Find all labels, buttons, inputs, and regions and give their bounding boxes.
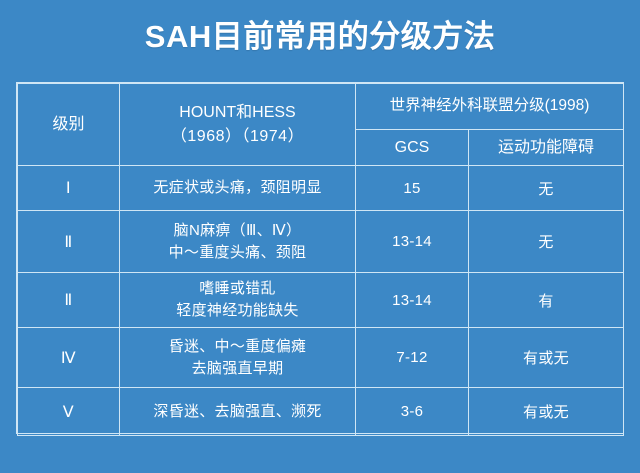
cell-motor-deficit: 有或无 bbox=[469, 328, 624, 388]
description-line1: 深昏迷、去脑强直、濒死 bbox=[123, 401, 352, 423]
slide-title-bar: SAH目前常用的分级方法 bbox=[0, 0, 640, 72]
description-line1: 无症状或头痛，颈阻明显 bbox=[123, 177, 352, 199]
cell-description: 嗜睡或错乱 轻度神经功能缺失 bbox=[120, 273, 356, 328]
description-line2: 轻度神经功能缺失 bbox=[123, 300, 352, 322]
cell-gcs: 13-14 bbox=[356, 211, 469, 273]
cell-description: 脑N麻痹（Ⅲ、Ⅳ） 中～重度头痛、颈阻 bbox=[120, 211, 356, 273]
column-header-hunt-hess: HOUNT和HESS （1968）（1974） bbox=[120, 84, 356, 166]
column-header-motor-deficit: 运动功能障碍 bbox=[469, 130, 624, 166]
cell-level: Ⅳ bbox=[18, 328, 120, 388]
description-line1: 昏迷、中～重度偏瘫 bbox=[123, 336, 352, 358]
column-header-level: 级别 bbox=[18, 84, 120, 166]
description-line2: 中～重度头痛、颈阻 bbox=[123, 242, 352, 264]
cell-motor-deficit: 无 bbox=[469, 166, 624, 211]
cell-level: Ⅱ bbox=[18, 211, 120, 273]
page-title: SAH目前常用的分级方法 bbox=[145, 21, 495, 52]
cell-gcs: 15 bbox=[356, 166, 469, 211]
cell-level: Ⅱ bbox=[18, 273, 120, 328]
description-line1: 脑N麻痹（Ⅲ、Ⅳ） bbox=[123, 220, 352, 242]
sah-grading-table: 级别 HOUNT和HESS （1968）（1974） 世界神经外科联盟分级(19… bbox=[17, 83, 624, 436]
cell-motor-deficit: 无 bbox=[469, 211, 624, 273]
cell-description: 昏迷、中～重度偏瘫 去脑强直早期 bbox=[120, 328, 356, 388]
cell-motor-deficit: 有 bbox=[469, 273, 624, 328]
cell-gcs: 3-6 bbox=[356, 388, 469, 436]
table-row: Ⅰ 无症状或头痛，颈阻明显 15 无 bbox=[18, 166, 624, 211]
table-row: Ⅳ 昏迷、中～重度偏瘫 去脑强直早期 7-12 有或无 bbox=[18, 328, 624, 388]
table-row: Ⅱ 嗜睡或错乱 轻度神经功能缺失 13-14 有 bbox=[18, 273, 624, 328]
hunt-hess-title-line1: HOUNT和HESS bbox=[123, 101, 352, 124]
table-row: Ⅴ 深昏迷、去脑强直、濒死 3-6 有或无 bbox=[18, 388, 624, 436]
cell-level: Ⅰ bbox=[18, 166, 120, 211]
cell-level: Ⅴ bbox=[18, 388, 120, 436]
description-line2: 去脑强直早期 bbox=[123, 358, 352, 380]
cell-gcs: 7-12 bbox=[356, 328, 469, 388]
table-header-row-1: 级别 HOUNT和HESS （1968）（1974） 世界神经外科联盟分级(19… bbox=[18, 84, 624, 130]
grading-table-container: 级别 HOUNT和HESS （1968）（1974） 世界神经外科联盟分级(19… bbox=[16, 82, 624, 434]
column-header-gcs: GCS bbox=[356, 130, 469, 166]
cell-motor-deficit: 有或无 bbox=[469, 388, 624, 436]
cell-gcs: 13-14 bbox=[356, 273, 469, 328]
table-row: Ⅱ 脑N麻痹（Ⅲ、Ⅳ） 中～重度头痛、颈阻 13-14 无 bbox=[18, 211, 624, 273]
column-header-wfns-group: 世界神经外科联盟分级(1998) bbox=[356, 84, 624, 130]
cell-description: 无症状或头痛，颈阻明显 bbox=[120, 166, 356, 211]
cell-description: 深昏迷、去脑强直、濒死 bbox=[120, 388, 356, 436]
hunt-hess-title-line2: （1968）（1974） bbox=[123, 125, 352, 148]
description-line1: 嗜睡或错乱 bbox=[123, 278, 352, 300]
